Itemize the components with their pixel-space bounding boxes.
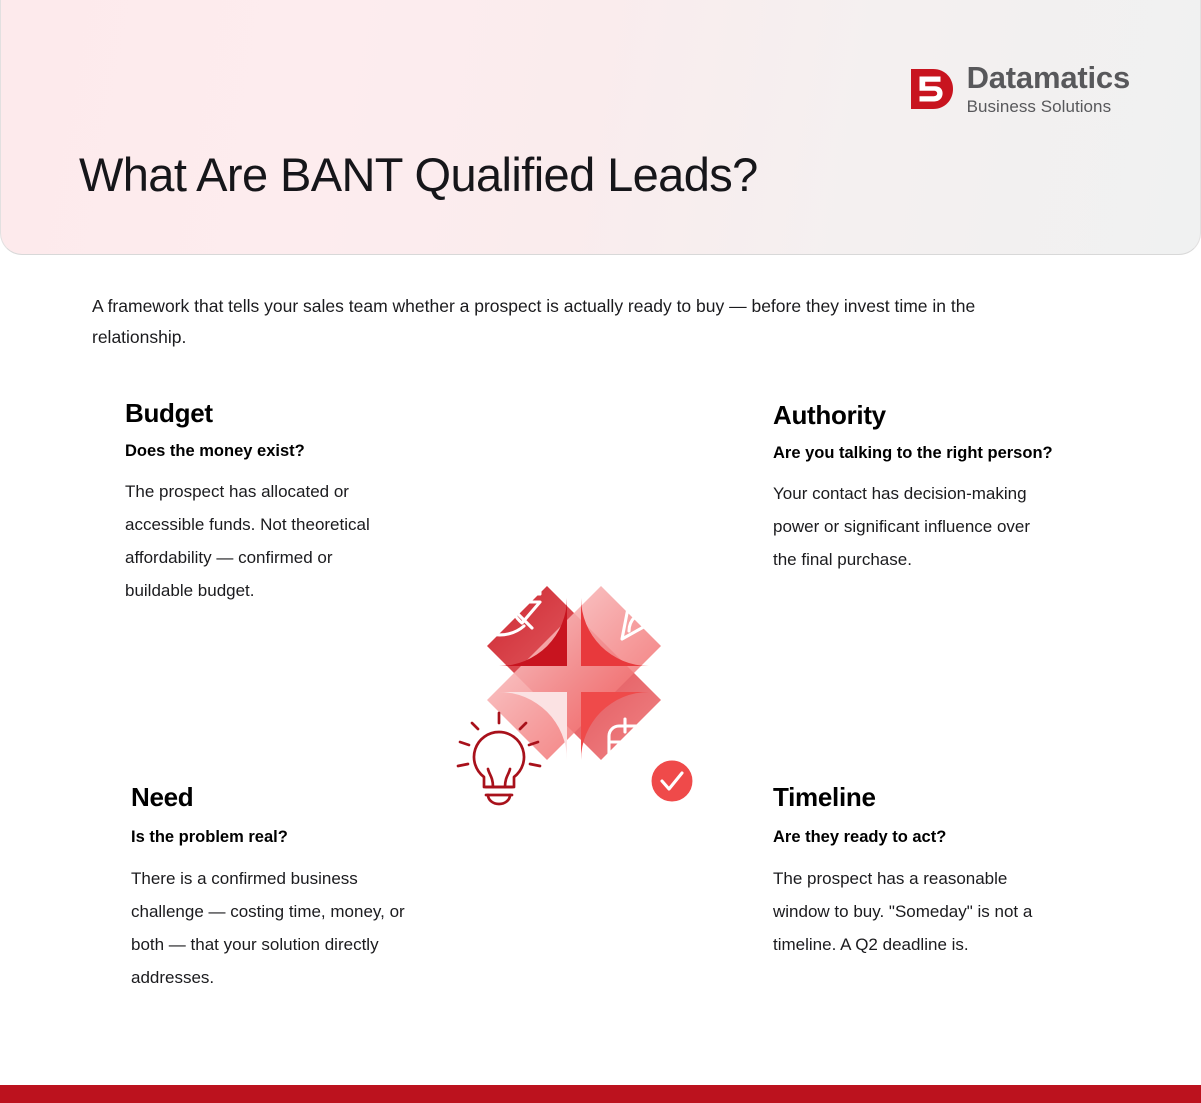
brand-logo: Datamatics Business Solutions — [909, 62, 1130, 115]
quadrant-timeline-title: Timeline — [773, 782, 1058, 813]
quadrant-budget-question: Does the money exist? — [125, 439, 403, 464]
page-title: What Are BANT Qualified Leads? — [79, 147, 758, 202]
quadrant-budget: Budget Does the money exist? The prospec… — [125, 398, 403, 607]
brand-text: Datamatics Business Solutions — [967, 62, 1130, 115]
quadrant-need-question: Is the problem real? — [131, 825, 406, 850]
bant-center-graphic — [424, 523, 724, 835]
pie-chart-dollar-icon — [463, 557, 540, 635]
quadrant-timeline: Timeline Are they ready to act? The pros… — [773, 782, 1058, 961]
quadrant-budget-body: The prospect has allocated or accessible… — [125, 475, 403, 607]
quadrant-timeline-body: The prospect has a reasonable window to … — [773, 862, 1058, 961]
quadrant-authority-title: Authority — [773, 400, 1058, 431]
quadrant-authority-question: Are you talking to the right person? — [773, 441, 1058, 466]
brand-name: Datamatics — [967, 62, 1130, 93]
infographic-page: Datamatics Business Solutions What Are B… — [0, 0, 1201, 1103]
quadrant-need: Need Is the problem real? There is a con… — [131, 782, 406, 994]
quadrant-need-title: Need — [131, 782, 406, 813]
quadrant-budget-title: Budget — [125, 398, 403, 429]
quadrant-authority: Authority Are you talking to the right p… — [773, 400, 1058, 576]
quadrant-timeline-question: Are they ready to act? — [773, 825, 1058, 850]
brand-tagline: Business Solutions — [967, 98, 1130, 115]
intro-paragraph: A framework that tells your sales team w… — [92, 291, 1002, 353]
header-banner: Datamatics Business Solutions What Are B… — [0, 0, 1201, 255]
footer-accent-bar — [0, 1085, 1201, 1103]
datamatics-d-logo-icon — [909, 67, 955, 111]
quadrant-need-body: There is a confirmed business challenge … — [131, 862, 406, 994]
quadrant-authority-body: Your contact has decision-making power o… — [773, 477, 1058, 576]
